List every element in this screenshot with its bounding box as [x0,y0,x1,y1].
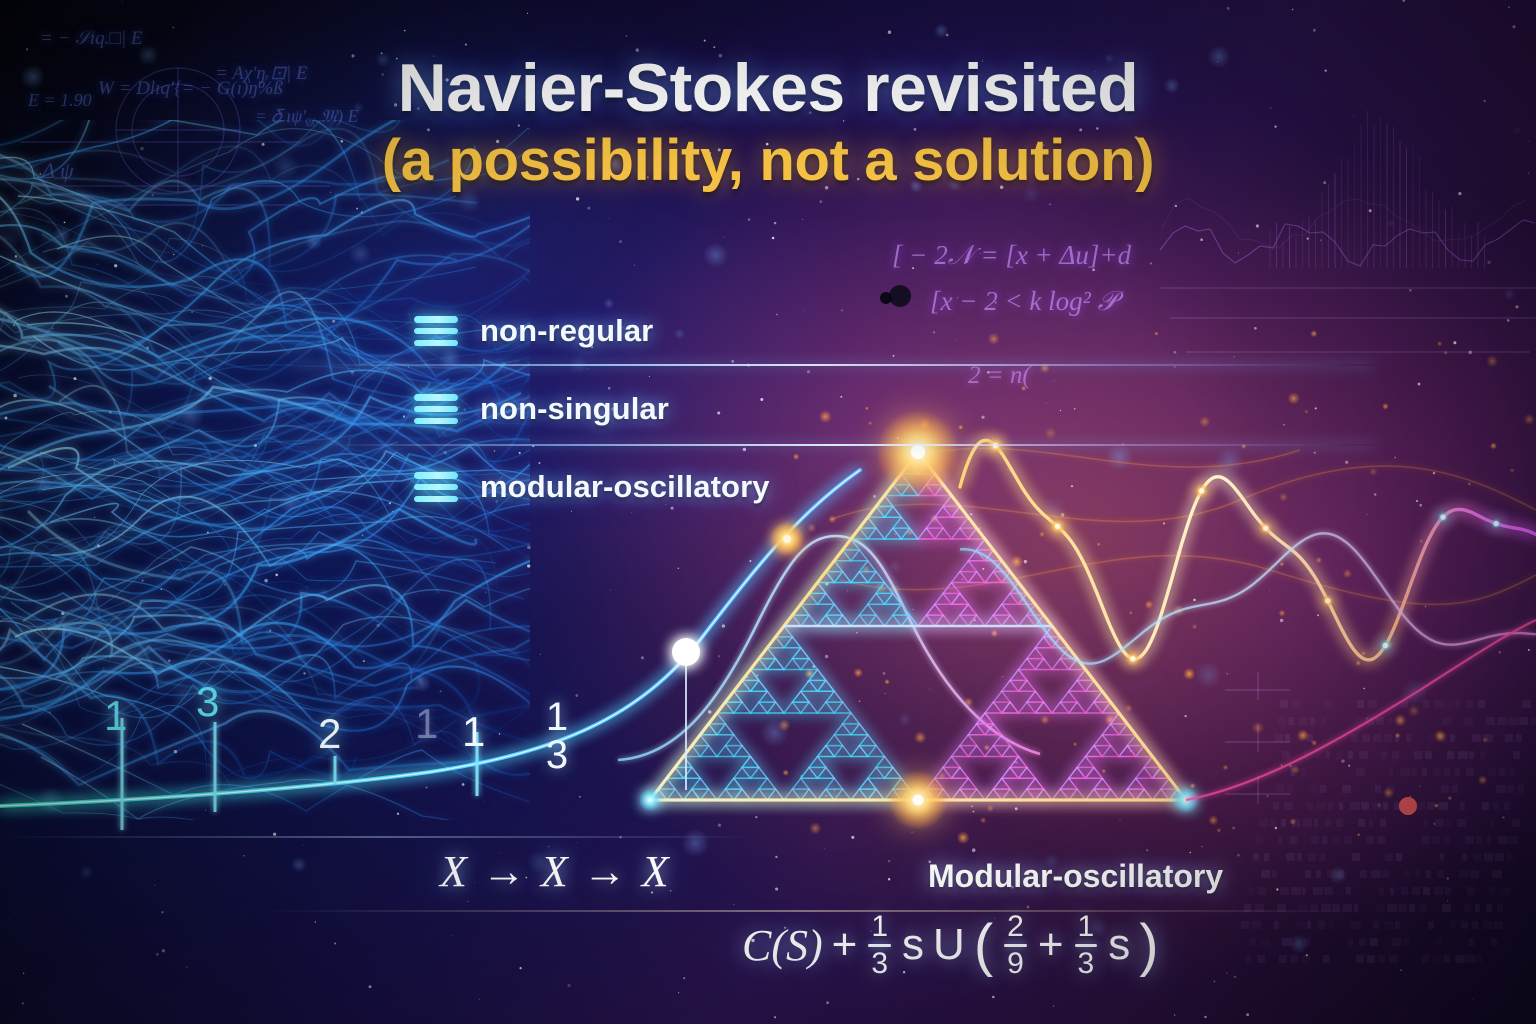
pink-tail [1186,620,1536,800]
fraction-denominator: 3 [537,736,577,774]
fraction-denominator: 3 [1075,947,1098,979]
bottom-equation: C(S) + 1 3 s U ( 2 9 + 1 3 s ) [742,912,1159,979]
menu-item-modular-oscillatory[interactable]: modular-oscillatory [414,448,1114,526]
menu-item-non-singular[interactable]: non-singular [414,370,1114,448]
decor-equation-left-4: = − 𝒮ıq.□| E [40,28,142,50]
axis-scale: 1 3 2 1 1 1 3 [0,660,720,840]
fraction-numerator: 1 [868,912,891,944]
menu-item-label: modular-oscillatory [480,469,770,505]
axis-tick-5: 1 [462,708,485,756]
menu-item-label: non-singular [480,391,669,427]
secondary-wave [960,533,1536,663]
fraction-denominator: 3 [868,947,891,979]
axis-tick-2: 3 [196,678,219,726]
light-streak [260,910,1360,912]
iteration-annotation: X → X → X [440,846,671,897]
fraction-denominator: 9 [1004,947,1027,979]
fraction-numerator: 2 [1004,912,1027,944]
decor-equation-topright-1: [ − 2𝒩 = [x + Δu]+d [892,240,1131,272]
equation-plus-1: + [832,920,858,970]
equation-close-paren: ) [1139,921,1158,970]
menu-list: non-regular non-singular modular-oscilla… [414,292,1114,526]
equation-var-2: s [1108,920,1130,970]
hamburger-icon[interactable] [414,472,458,502]
title-block: Navier-Stokes revisited (a possibility, … [0,52,1536,192]
equation-operator: U [933,920,965,970]
menu-item-label: non-regular [480,313,653,349]
page-title: Navier-Stokes revisited [0,52,1536,124]
equation-lead: C(S) [742,920,823,971]
equation-plus-2: + [1038,920,1064,970]
hamburger-icon[interactable] [414,394,458,424]
equation-var-1: s [902,920,924,970]
axis-tick-fraction: 1 3 [537,698,577,775]
fraction-numerator: 1 [1075,912,1098,944]
light-streak [0,836,760,838]
menu-item-non-regular[interactable]: non-regular [414,292,1114,370]
poster-canvas: = − 𝒮ıq.□| E = Aχ'ŋᵣ⊡| E E = 1.90 W = Dl… [0,0,1536,1024]
equation-fraction-2: 2 9 [1004,912,1027,979]
axis-tick-3: 2 [318,710,341,758]
equation-open-paren: ( [974,921,993,970]
menu-divider [294,444,1374,446]
menu-divider [294,364,1374,366]
equation-fraction-1: 1 3 [868,912,891,979]
axis-tick-1: 1 [104,692,127,740]
axis-tick-4: 1 [415,700,438,748]
hamburger-icon[interactable] [414,316,458,346]
equation-fraction-3: 1 3 [1075,912,1098,979]
page-subtitle: (a possibility, not a solution) [0,130,1536,191]
modular-oscillatory-label: Modular-oscillatory [928,858,1223,895]
fraction-numerator: 1 [537,698,577,736]
